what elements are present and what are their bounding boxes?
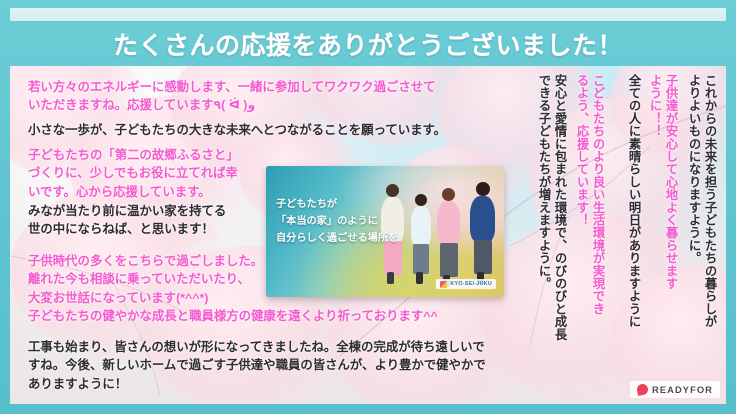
child-silhouette [468, 182, 498, 286]
vertical-message: これからの未来を担う子どもたちの暮らしが よりよいものになりますように。 [686, 74, 718, 374]
vertical-message: 子供達が安心して心地よく暮らせます ように！！ [647, 74, 679, 374]
message-text: 工事も始まり、皆さんの想いが形になってきましたね。全棟の完成が待ち遠しいで すね… [28, 338, 538, 393]
project-photo-card[interactable]: 子どもたちが 「本当の家」のように 自分らしく過ごせる場所を KYO-SEI-J… [266, 166, 504, 297]
top-accent-bar [10, 8, 726, 21]
card-caption: 子どもたちが 「本当の家」のように 自分らしく過ごせる場所を [276, 196, 436, 247]
message-text: 小さな一歩が、子どもたちの大きな未来へとつながることを願っています。 [28, 121, 506, 139]
message-text: 若い方々のエネルギーに感動します、一緒に参加してワクワク過ごさせて いただきます… [28, 78, 506, 115]
kyoseijuku-logo-text: KYO-SEI-JUKU [450, 281, 492, 287]
child-silhouette [434, 188, 464, 288]
vertical-message: 全ての人に素晴らしい明日がありますように [626, 74, 642, 374]
vertical-message: こどもたちのより良い生活環境が実現でき るよう、応援しています！ [574, 74, 606, 374]
readyfor-mark-icon [636, 383, 649, 396]
kyoseijuku-mark-icon [440, 281, 447, 288]
slide-background: たくさんの応援をありがとうございました！ 若い方々のエネル [0, 0, 736, 414]
message-text: 子どもたちの「第二の故郷ふるさと」 づくりに、少しでもお役に立てれば幸 いです。… [28, 146, 272, 201]
readyfor-logo[interactable]: READYFOR [630, 381, 720, 398]
page-title: たくさんの応援をありがとうございました！ [0, 24, 736, 64]
vertical-message: 安心と愛情に包まれた環境で、のびのびと成長 できる子どもたちが増えますように。 [536, 74, 568, 374]
kyoseijuku-logo: KYO-SEI-JUKU [436, 279, 496, 289]
readyfor-wordmark: READYFOR [652, 385, 713, 395]
message-text: みなが当たり前に温かい家を持てる 世の中にならねば、と思います！ [28, 202, 272, 239]
content-panel: 若い方々のエネルギーに感動します、一緒に参加してワクワク過ごさせて いただきます… [10, 66, 726, 404]
